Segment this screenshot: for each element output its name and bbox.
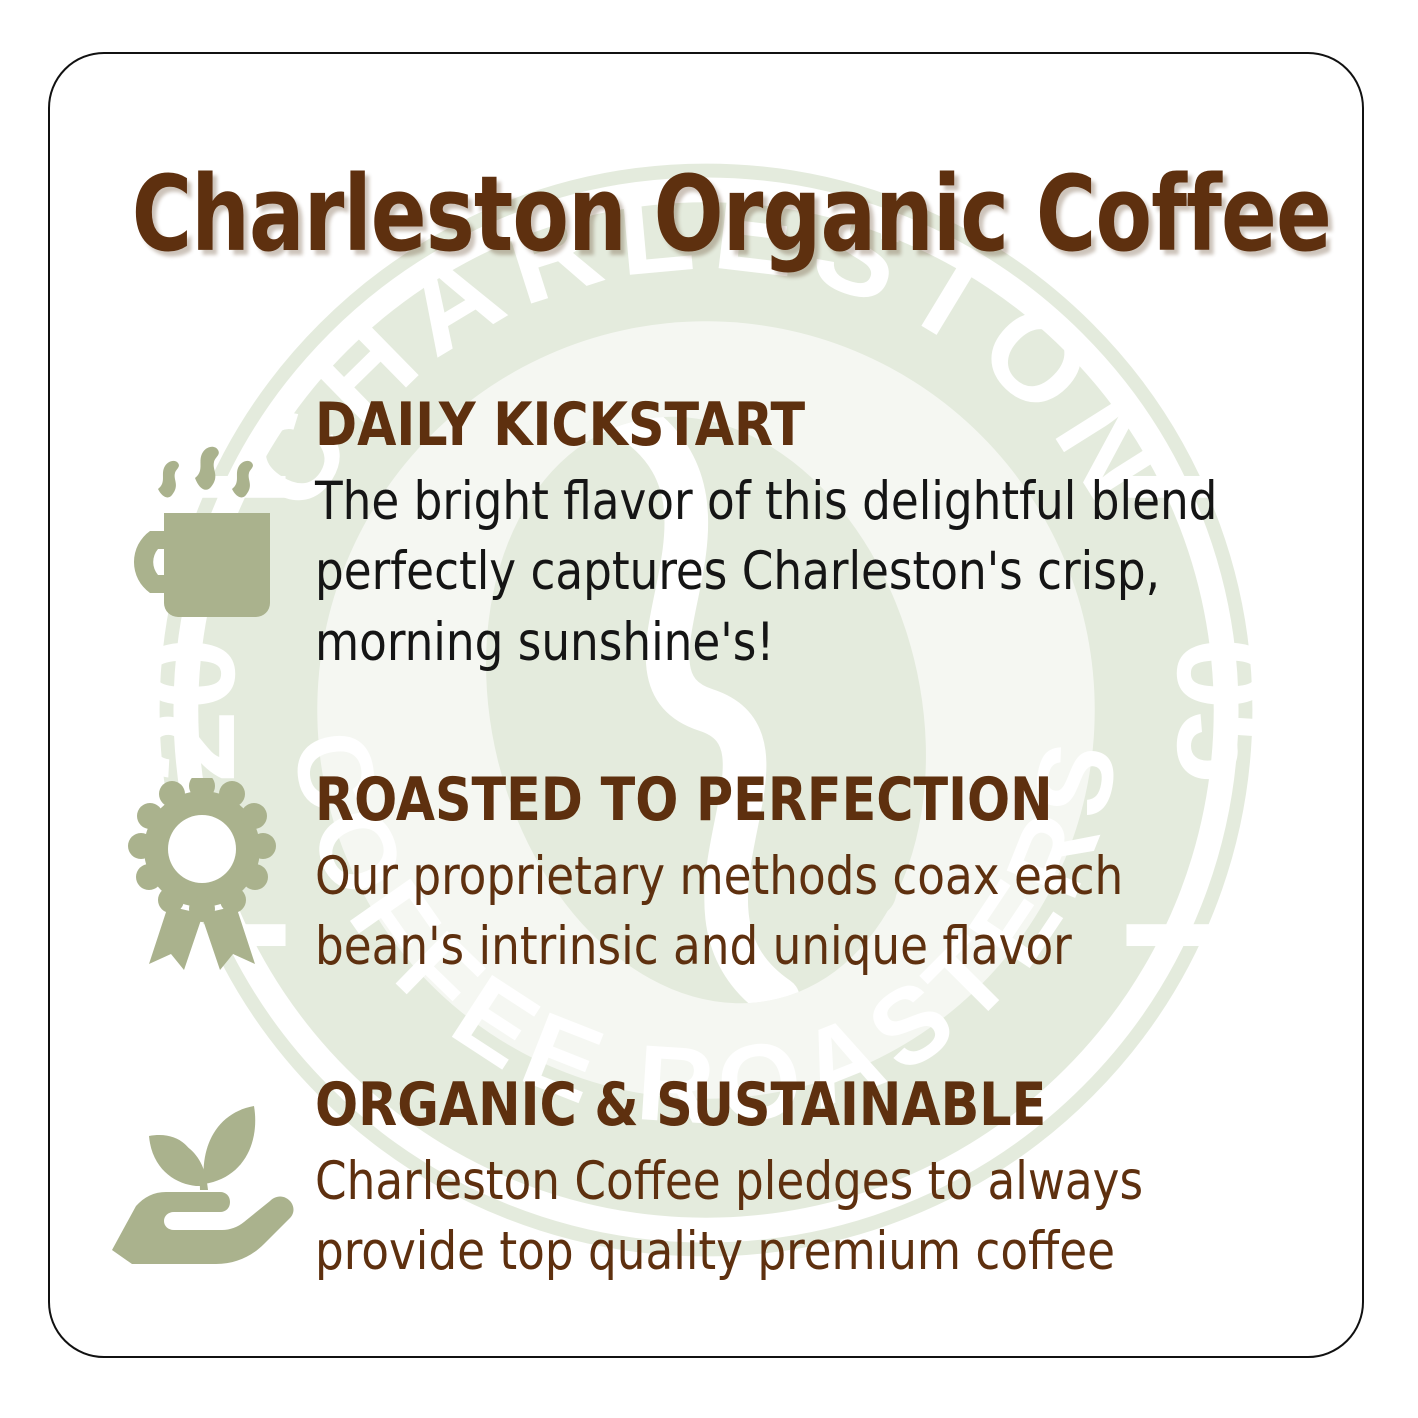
feature-icon-cell: [94, 445, 309, 627]
coffee-cup-icon: [118, 445, 286, 627]
feature-heading: ROASTED TO PERFECTION: [315, 769, 1263, 832]
feature-row-organic-sustainable: ORGANIC & SUSTAINABLE Charleston Coffee …: [94, 1074, 1324, 1288]
feature-body: Our proprietary methods coax each bean's…: [315, 842, 1274, 983]
product-feature-card: CHARLESTON COFFEE ROASTERS 20 05: [48, 52, 1364, 1358]
feature-heading: ORGANIC & SUSTAINABLE: [315, 1074, 1263, 1137]
feature-row-roasted-to-perfection: ROASTED TO PERFECTION Our proprietary me…: [94, 769, 1324, 983]
feature-body: Charleston Coffee pledges to always prov…: [315, 1147, 1274, 1288]
award-ribbon-icon: [127, 778, 277, 974]
card-title-container: Charleston Organic Coffee: [50, 162, 1362, 266]
feature-text-cell: ROASTED TO PERFECTION Our proprietary me…: [309, 769, 1324, 983]
feature-text-cell: ORGANIC & SUSTAINABLE Charleston Coffee …: [309, 1074, 1324, 1288]
feature-icon-cell: [94, 778, 309, 974]
feature-icon-cell: [94, 1098, 309, 1264]
hand-sprout-icon: [104, 1098, 300, 1264]
feature-row-daily-kickstart: DAILY KICKSTART The bright flavor of thi…: [94, 394, 1324, 678]
feature-body: The bright flavor of this delightful ble…: [315, 467, 1274, 678]
page-title: Charleston Organic Coffee: [132, 162, 1331, 266]
feature-heading: DAILY KICKSTART: [315, 394, 1263, 457]
feature-text-cell: DAILY KICKSTART The bright flavor of thi…: [309, 394, 1324, 678]
